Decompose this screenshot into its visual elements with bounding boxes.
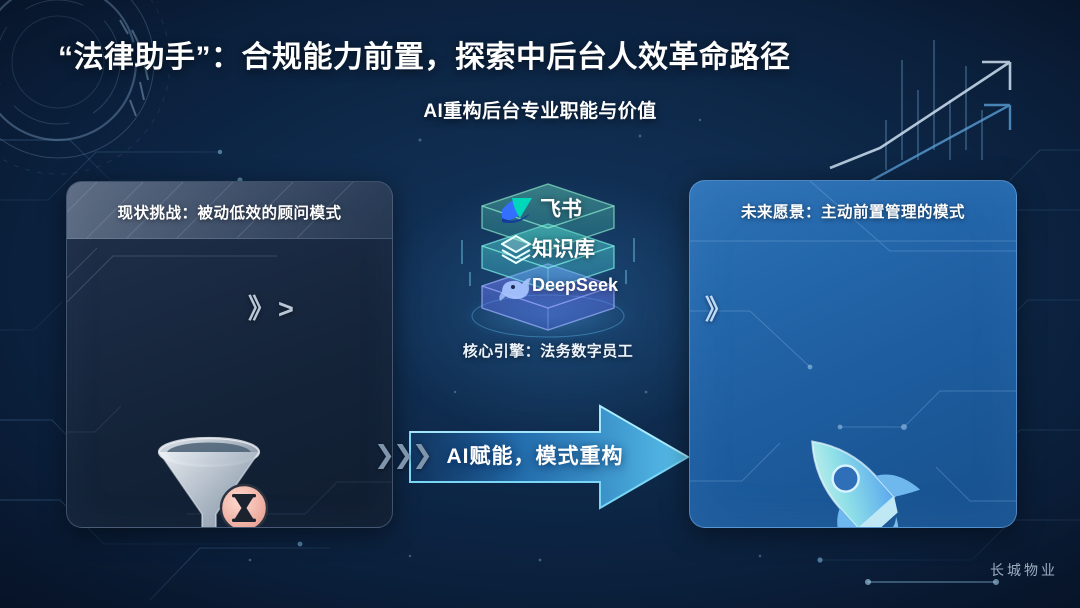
challenge-card[interactable]: 现状挑战：被动低效的顾问模式 工作反反复复，堵点频现 法律顾问的能力不一: [66, 181, 393, 528]
transform-arrow-label: AI赋能，模式重构: [404, 440, 666, 470]
brand-watermark: 长城物业: [990, 560, 1058, 580]
vision-card-title: 未来愿景：主动前置管理的模式: [690, 200, 1016, 222]
core-engine-stack: 飞书 知识库 DeepSeek: [448, 168, 648, 348]
core-engine-caption: 核心引擎：法务数字员工: [398, 340, 698, 361]
vision-card[interactable]: 未来愿景：主动前置管理的模式 把法务的基础能力前置到一线中: [689, 180, 1017, 528]
page-title: “法律助手”：合规能力前置，探索中后台人效革命路径: [58, 32, 918, 76]
stack-label-feishu: 飞书: [540, 193, 582, 223]
page-subtitle: AI重构后台专业职能与价值: [0, 96, 1080, 123]
challenge-card-title: 现状挑战：被动低效的顾问模式: [67, 201, 392, 223]
challenge-chevron-icon: 》>: [248, 287, 297, 326]
stack-label-knowledge: 知识库: [532, 233, 595, 263]
rocket-icon: [775, 417, 935, 528]
slide-canvas: “法律助手”：合规能力前置，探索中后台人效革命路径 AI重构后台专业职能与价值 …: [0, 0, 1080, 608]
vision-chevron-icon: 》: [705, 288, 734, 327]
funnel-bottleneck-icon: [143, 428, 293, 528]
transform-chevron-icon: ❯❯❯: [374, 440, 431, 470]
stack-label-deepseek: DeepSeek: [532, 275, 618, 296]
